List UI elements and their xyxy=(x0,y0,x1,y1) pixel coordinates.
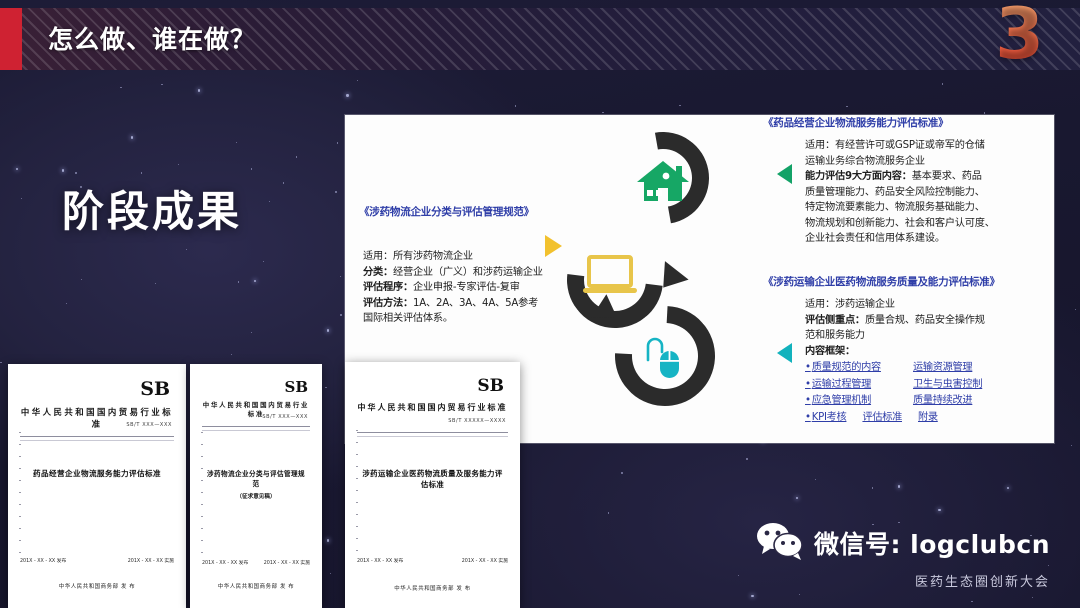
link-item[interactable]: 质量持续改进 xyxy=(913,394,1051,409)
wechat-icon xyxy=(756,521,804,565)
star xyxy=(621,472,622,473)
doc-standard-mark: SB xyxy=(284,378,308,396)
star xyxy=(898,485,900,487)
spec-line-label: 适用： xyxy=(805,140,835,151)
doc-code: SB/T XXX—XXX xyxy=(126,422,172,428)
doc-side-marks xyxy=(356,430,358,560)
spec-line: 能力评估9大方面内容：基本要求、药品 xyxy=(805,169,1051,185)
laptop-icon xyxy=(581,254,639,300)
star xyxy=(81,279,82,280)
link-item[interactable]: KPI考核 xyxy=(805,411,846,426)
doc-standard-mark: SB xyxy=(140,378,170,400)
spec-line-value: 有经营许可或GSP证或帝军的仓储 xyxy=(835,140,985,151)
link-item[interactable]: 附录 xyxy=(918,411,938,426)
star xyxy=(178,164,179,165)
star xyxy=(186,249,187,250)
doc-dates: 201X - XX - XX 发布201X - XX - XX 实施 xyxy=(20,557,174,564)
star xyxy=(0,362,1,363)
doc-footer: 中华人民共和国商务部 发 布 xyxy=(355,584,510,592)
star xyxy=(141,172,142,173)
page-title: 阶段成果 xyxy=(62,178,242,239)
star xyxy=(254,280,256,282)
star xyxy=(942,83,943,84)
star xyxy=(357,80,358,81)
header-accent-bar xyxy=(0,8,22,70)
spec-line: 内容框架： xyxy=(805,344,1051,360)
star xyxy=(75,172,76,173)
spec-line-label: 能力评估9大方面内容： xyxy=(805,171,912,182)
spec-right-1-body: 适用：有经营许可或GSP证或帝军的仓储运输业务综合物流服务企业能力评估9大方面内… xyxy=(805,138,1051,247)
star xyxy=(337,142,338,143)
link-item[interactable]: 运输资源管理 xyxy=(913,361,1051,376)
spec-line-value: 质量管理能力、药品安全风险控制能力、 xyxy=(805,187,985,198)
star xyxy=(984,112,985,113)
header-title: 怎么做、谁在做？ xyxy=(48,20,256,56)
spec-line-value: 经营企业（广义）和涉药运输企业 xyxy=(393,267,543,278)
star xyxy=(340,314,341,315)
doc-code: SB/T XXX—XXX xyxy=(262,414,308,420)
spec-line: 适用：涉药运输企业 xyxy=(805,297,1051,313)
link-item[interactable]: 应急管理机制 xyxy=(805,394,913,409)
star xyxy=(1032,597,1033,598)
star xyxy=(340,276,341,277)
star xyxy=(1007,487,1009,489)
spec-line-value: 企业申报-专家评估-复审 xyxy=(413,282,520,293)
divider xyxy=(357,436,508,437)
star xyxy=(327,329,329,331)
doc-issue-date: 201X - XX - XX 发布 xyxy=(357,557,403,564)
spec-line: 评估侧重点：质量合规、药品安全操作规 xyxy=(805,313,1051,329)
link-item[interactable]: 卫生与虫害控制 xyxy=(913,378,1051,393)
star xyxy=(16,168,18,170)
link-list: 质量规范的内容运输资源管理运输过程管理卫生与虫害控制应急管理机制质量持续改进KP… xyxy=(763,361,1051,425)
link-item[interactable]: 评估标准 xyxy=(862,411,902,426)
star xyxy=(263,261,264,262)
doc-title: 涉药物流企业分类与评估管理规范 xyxy=(206,470,306,490)
spec-right-2-body: 适用：涉药运输企业评估侧重点：质量合规、药品安全操作规范和服务能力内容框架： xyxy=(805,297,1051,359)
house-icon xyxy=(635,158,691,208)
spec-line-value: 特定物流要素能力、物流服务基础能力、 xyxy=(805,202,985,213)
spec-line-value: 企业社会责任和信用体系建设。 xyxy=(805,233,945,244)
divider xyxy=(202,426,310,427)
divider xyxy=(20,436,174,437)
spec-line: 物流规划和创新能力、社会和客户认可度、 xyxy=(805,216,1051,232)
doc-issue-date: 201X - XX - XX 发布 xyxy=(202,559,248,566)
star xyxy=(751,595,753,597)
star xyxy=(66,303,67,304)
star xyxy=(131,136,133,138)
doc-footer: 中华人民共和国商务部 发 布 xyxy=(18,582,176,590)
star xyxy=(515,105,516,106)
spec-line-value: 质量合规、药品安全操作规 xyxy=(865,315,985,326)
spec-right-2-heading: 《涉药运输企业医药物流服务质量及能力评估标准》 xyxy=(763,275,1051,290)
cycle-diagram xyxy=(555,120,745,440)
doc-national-line: 中华人民共和国国内贸易行业标准 xyxy=(355,402,510,413)
spec-line-value: 物流规划和创新能力、社会和客户认可度、 xyxy=(805,218,995,229)
link-item[interactable]: 质量规范的内容 xyxy=(805,361,913,376)
star xyxy=(679,105,680,106)
star xyxy=(62,169,64,171)
star xyxy=(799,594,800,595)
star xyxy=(1071,445,1072,446)
star xyxy=(1075,309,1076,310)
spec-line-value: 范和服务能力 xyxy=(805,330,865,341)
doc-subtitle: （征求意见稿） xyxy=(206,492,306,500)
star xyxy=(608,512,609,513)
spec-line-label: 评估方法： xyxy=(363,298,413,309)
spec-line-label: 适用： xyxy=(363,251,393,262)
star xyxy=(815,479,816,480)
doc-side-marks xyxy=(19,432,21,560)
star xyxy=(283,182,284,183)
star xyxy=(346,94,348,96)
marker-triangle-teal-icon xyxy=(777,343,792,363)
document-thumbnail[interactable]: SB中华人民共和国国内贸易行业标准SB/T XXX—XXX涉药物流企业分类与评估… xyxy=(190,364,322,608)
doc-footer: 中华人民共和国商务部 发 布 xyxy=(200,582,312,590)
link-row: KPI考核评估标准附录 xyxy=(805,411,1051,426)
divider xyxy=(357,432,508,433)
divider xyxy=(202,430,310,431)
doc-dates: 201X - XX - XX 发布201X - XX - XX 实施 xyxy=(202,559,310,566)
spec-line-value: 国际相关评估体系。 xyxy=(363,313,453,324)
star xyxy=(296,156,297,157)
spec-block-right-1: 《药品经营企业物流服务能力评估标准》 适用：有经营许可或GSP证或帝军的仓储运输… xyxy=(763,116,1051,247)
star xyxy=(269,201,270,202)
spec-line: 适用：有经营许可或GSP证或帝军的仓储 xyxy=(805,138,1051,154)
doc-effect-date: 201X - XX - XX 实施 xyxy=(264,559,310,566)
spec-line-value: 所有涉药物流企业 xyxy=(393,251,473,262)
wechat-branding: 微信号: logclubcn 医药生态圈创新大会 xyxy=(756,521,1050,590)
doc-dates: 201X - XX - XX 发布201X - XX - XX 实施 xyxy=(357,557,508,564)
star xyxy=(231,354,232,355)
marker-triangle-green-icon xyxy=(777,164,792,184)
spec-line: 质量管理能力、药品安全风险控制能力、 xyxy=(805,185,1051,201)
wechat-subtitle: 医药生态圈创新大会 xyxy=(756,571,1050,590)
star xyxy=(872,487,873,488)
spec-line: 特定物流要素能力、物流服务基础能力、 xyxy=(805,200,1051,216)
spec-line-label: 内容框架： xyxy=(805,346,855,357)
star xyxy=(161,84,162,85)
slide-canvas: 怎么做、谁在做？ 3 阶段成果 《涉药物流企业分类与评估管理规范》 适用：所有涉… xyxy=(0,0,1080,608)
star xyxy=(938,509,940,511)
spec-line: 运输业务综合物流服务企业 xyxy=(805,154,1051,170)
spec-line-label: 评估侧重点： xyxy=(805,315,865,326)
spec-line-label: 评估程序： xyxy=(363,282,413,293)
spec-line-label: 分类： xyxy=(363,267,393,278)
doc-side-marks xyxy=(201,432,203,560)
spec-line-value: 涉药运输企业 xyxy=(835,299,895,310)
doc-title: 涉药运输企业医药物流质量及服务能力评估标准 xyxy=(361,468,504,490)
spec-block-right-2: 《涉药运输企业医药物流服务质量及能力评估标准》 适用：涉药运输企业评估侧重点：质… xyxy=(763,275,1051,425)
link-item[interactable]: 运输过程管理 xyxy=(805,378,913,393)
star xyxy=(198,89,200,91)
spec-right-1-heading: 《药品经营企业物流服务能力评估标准》 xyxy=(763,116,1051,131)
star xyxy=(251,168,252,169)
star xyxy=(738,575,739,576)
star xyxy=(327,539,329,541)
star xyxy=(746,458,747,459)
spec-left-heading: 《涉药物流企业分类与评估管理规范》 xyxy=(359,205,534,220)
doc-code: SB/T XXXXX—XXXX xyxy=(448,418,506,424)
doc-effect-date: 201X - XX - XX 实施 xyxy=(128,557,174,564)
spec-line: 范和服务能力 xyxy=(805,328,1051,344)
doc-title: 药品经营企业物流服务能力评估标准 xyxy=(24,468,170,479)
divider xyxy=(20,440,174,441)
mouse-icon xyxy=(643,334,683,384)
document-thumbnail[interactable]: SB中华人民共和国国内贸易行业标准SB/T XXXXX—XXXX涉药运输企业医药… xyxy=(345,362,520,608)
star xyxy=(120,87,121,88)
star xyxy=(846,106,847,107)
star xyxy=(251,332,252,333)
doc-effect-date: 201X - XX - XX 实施 xyxy=(462,557,508,564)
star xyxy=(602,112,603,113)
document-thumbnail[interactable]: SB中华人民共和国国内贸易行业标准SB/T XXX—XXX药品经营企业物流服务能… xyxy=(8,364,186,608)
star xyxy=(330,573,331,574)
spec-line-value: 1A、2A、3A、4A、5A参考 xyxy=(413,298,538,309)
star xyxy=(21,198,22,199)
star xyxy=(971,601,972,602)
star xyxy=(236,142,237,143)
doc-standard-mark: SB xyxy=(477,376,504,396)
star xyxy=(335,191,336,192)
spec-line-value: 运输业务综合物流服务企业 xyxy=(805,156,925,167)
star xyxy=(155,283,156,284)
spec-line: 企业社会责任和信用体系建设。 xyxy=(805,231,1051,247)
wechat-id-text: 微信号: logclubcn xyxy=(814,525,1050,561)
spec-line-value: 基本要求、药品 xyxy=(912,171,982,182)
section-number: 3 xyxy=(995,0,1044,72)
spec-line-label: 适用： xyxy=(805,299,835,310)
star xyxy=(238,281,239,282)
star xyxy=(796,497,798,499)
doc-issue-date: 201X - XX - XX 发布 xyxy=(20,557,66,564)
star xyxy=(325,387,326,388)
